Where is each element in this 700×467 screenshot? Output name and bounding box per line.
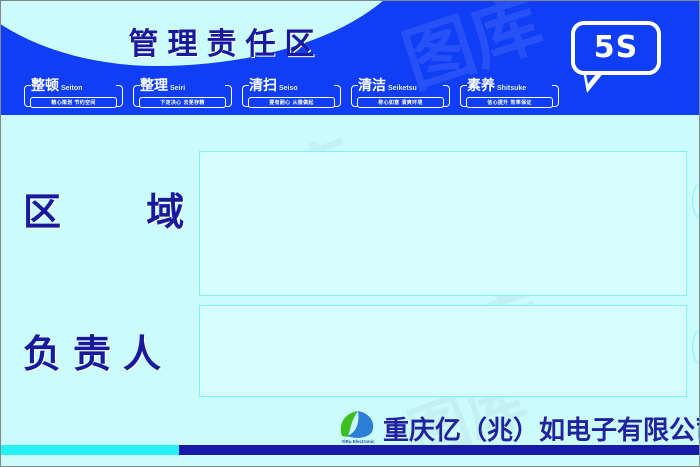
- header-banner: 图库 管理责任区 5S 整顿 Seiton 精心策划 节约空间: [1, 1, 700, 115]
- bottom-bar-blue-segment: [179, 445, 700, 455]
- five-s-cn-label: 整顿: [31, 79, 59, 93]
- bottom-accent-bar: [1, 445, 700, 455]
- five-s-en-label: Seiri: [170, 85, 185, 93]
- logo-caption: YiRu Electronic: [334, 439, 382, 444]
- field-row-area: 区 域: [1, 129, 700, 289]
- five-s-cn-label: 清洁: [358, 79, 386, 93]
- bottom-strip: [1, 455, 700, 467]
- content-area: 图库 图库 图库 区 域 负责人: [1, 115, 700, 435]
- field-input-area[interactable]: [199, 151, 687, 296]
- bottom-bar-cyan-segment: [1, 445, 179, 455]
- company-logo: YiRu Electronic: [334, 409, 382, 449]
- field-input-owner[interactable]: [199, 305, 687, 397]
- five-s-list: 整顿 Seiton 精心策划 节约空间 整理 Seiri 下定决心 去芜存精 清: [19, 79, 564, 109]
- five-s-item-seiri[interactable]: 整理 Seiri 下定决心 去芜存精: [128, 79, 237, 109]
- five-s-en-label: Shitsuke: [497, 85, 526, 93]
- five-s-en-label: Seiso: [279, 85, 298, 93]
- five-s-en-label: Seiton: [61, 85, 82, 93]
- leaf-swoosh-logo-icon: [336, 409, 380, 439]
- bracket-right-icon: [552, 85, 559, 107]
- five-s-subtitle: 称心如意 清爽环境: [357, 97, 444, 108]
- five-s-subtitle: 要有耐心 从微做起: [248, 97, 335, 108]
- five-s-item-seiton[interactable]: 整顿 Seiton 精心策划 节约空间: [19, 79, 128, 109]
- company-name: 重庆亿（兆）如电子有限公司: [383, 410, 700, 447]
- bracket-right-icon: [225, 85, 232, 107]
- bracket-right-icon: [334, 85, 341, 107]
- five-s-subtitle: 精心策划 节约空间: [30, 97, 117, 108]
- footer-company: YiRu Electronic 重庆亿（兆）如电子有限公司: [1, 401, 700, 445]
- field-row-owner: 负责人: [1, 301, 700, 401]
- signboard: 图库 管理责任区 5S 整顿 Seiton 精心策划 节约空间: [0, 0, 700, 467]
- five-s-item-seiso[interactable]: 清扫 Seiso 要有耐心 从微做起: [237, 79, 346, 109]
- five-s-cn-label: 素养: [467, 79, 495, 93]
- bracket-right-icon: [443, 85, 450, 107]
- five-s-cn-label: 清扫: [249, 79, 277, 93]
- five-s-subtitle: 下定决心 去芜存精: [139, 97, 226, 108]
- five-s-en-label: Seiketsu: [388, 85, 417, 93]
- five-s-cn-label: 整理: [140, 79, 168, 93]
- five-s-item-shitsuke[interactable]: 素养 Shitsuke 信心提升 效率保证: [455, 79, 564, 109]
- five-s-subtitle: 信心提升 效率保证: [466, 97, 553, 108]
- five-s-item-seiketsu[interactable]: 清洁 Seiketsu 称心如意 清爽环境: [346, 79, 455, 109]
- bracket-right-icon: [116, 85, 123, 107]
- field-label-area: 区 域: [23, 181, 220, 236]
- page-title: 管理责任区: [61, 19, 391, 63]
- badge-5s-label: 5S: [594, 33, 638, 63]
- field-label-owner: 负责人: [23, 323, 173, 378]
- badge-5s: 5S: [571, 21, 661, 75]
